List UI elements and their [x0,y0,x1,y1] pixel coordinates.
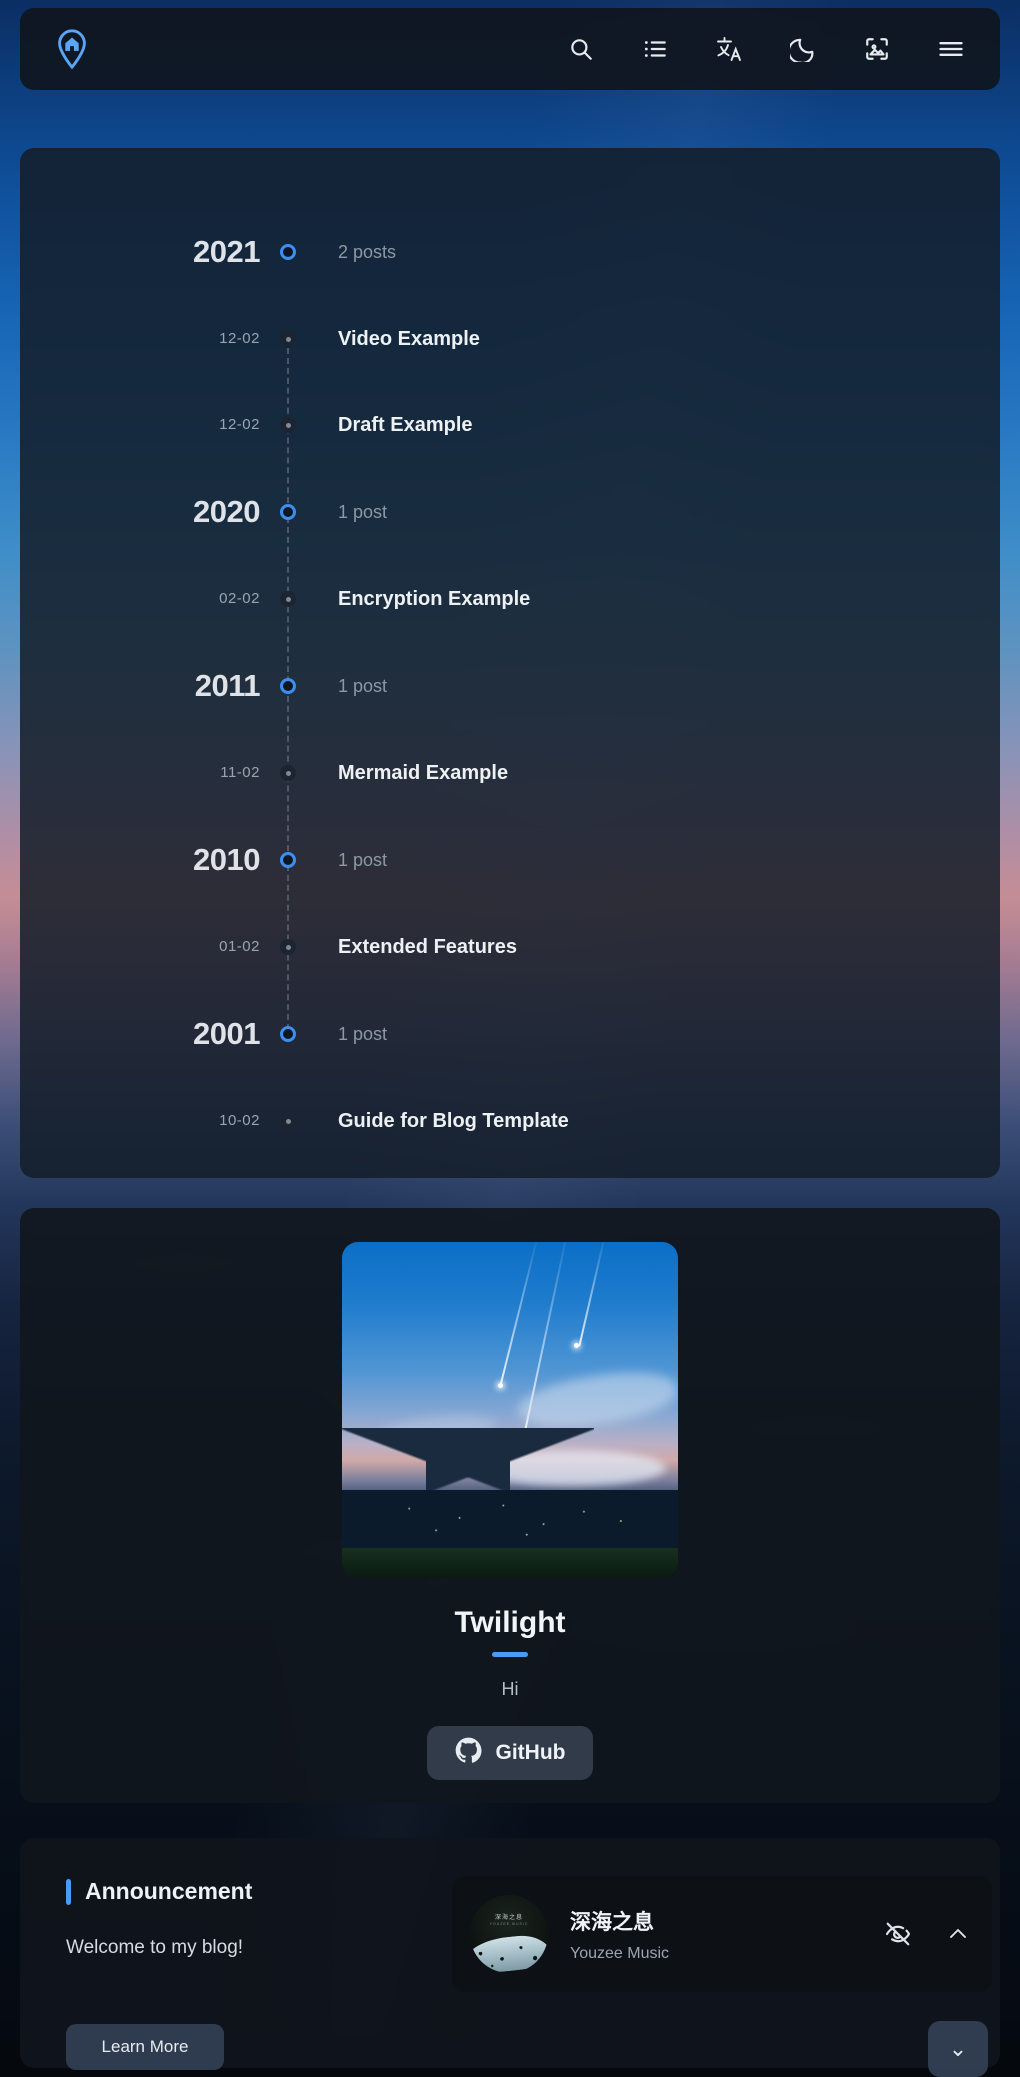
twilight-sky-avatar [342,1242,678,1578]
album-art: 深海之息 YOUZEE MUSIC [470,1895,548,1973]
timeline-year-group: 20101 post [20,816,1000,904]
meteor-streak [500,1242,539,1385]
album-art-wave [470,1932,548,1973]
header-nav-icons [566,34,966,64]
mountain-silhouette [342,1428,678,1492]
timeline-year-dot [273,244,303,260]
home-pin-logo[interactable] [54,28,90,70]
github-button[interactable]: GitHub [427,1726,594,1780]
timeline-post-count: 1 post [338,502,387,523]
timeline-post-title[interactable]: Encryption Example [338,588,530,611]
track-artist: Youzee Music [570,1945,669,1963]
grass-field [342,1548,678,1578]
track-title: 深海之息 [570,1906,669,1936]
timeline-post-row[interactable]: 12-02Video Example [20,296,1000,382]
timeline-year-dot [273,852,303,868]
timeline-post-count: 2 posts [338,242,396,263]
announcement-accent-bar [66,1879,71,1905]
timeline-post-date: 02-02 [20,590,260,608]
timeline-post-row[interactable]: 01-02Extended Features [20,904,1000,990]
timeline-post-dot [273,331,303,347]
city-lights [342,1490,678,1552]
close-player-button[interactable]: ⌄ [928,2021,988,2077]
timeline-year-label: 2021 [20,234,260,270]
timeline-year-dot [273,504,303,520]
timeline-post-count: 1 post [338,850,387,871]
timeline-year-dot [273,1026,303,1042]
timeline-post-dot [273,417,303,433]
profile-bio: Hi [502,1679,519,1700]
timeline-post-title[interactable]: Draft Example [338,414,473,437]
timeline-year-label: 2001 [20,1016,260,1052]
timeline-post-date: 01-02 [20,938,260,956]
archive-timeline: 20212 posts12-02Video Example12-02Draft … [20,148,1000,1164]
timeline-post-dot [273,1113,303,1129]
track-info: 深海之息 Youzee Music [570,1906,669,1963]
timeline-post-count: 1 post [338,676,387,697]
archive-timeline-card: 20212 posts12-02Video Example12-02Draft … [20,148,1000,1178]
timeline-post-dot [273,591,303,607]
timeline-post-title[interactable]: Video Example [338,328,480,351]
github-icon [455,1737,482,1769]
github-button-label: GitHub [496,1741,566,1765]
timeline-post-count: 1 post [338,1024,387,1045]
cloud-shape [514,1364,678,1436]
timeline-post-title[interactable]: Extended Features [338,936,517,959]
moon-icon[interactable] [788,34,818,64]
timeline-year-group: 20201 post [20,468,1000,556]
player-controls [884,1920,970,1948]
hide-lyrics-icon[interactable] [884,1920,912,1948]
timeline-year-dot [273,678,303,694]
profile-name: Twilight [454,1606,565,1640]
timeline-year-group: 20212 posts [20,208,1000,296]
timeline-post-date: 10-02 [20,1112,260,1130]
timeline-year-label: 2010 [20,842,260,878]
site-header [20,8,1000,90]
chevron-up-icon[interactable] [946,1922,970,1946]
timeline-post-title[interactable]: Mermaid Example [338,762,508,785]
timeline-post-row[interactable]: 11-02Mermaid Example [20,730,1000,816]
timeline-post-date: 11-02 [20,764,260,782]
album-art-title: 深海之息 [470,1912,548,1921]
timeline-post-row[interactable]: 10-02Guide for Blog Template [20,1078,1000,1164]
timeline-post-dot [273,765,303,781]
announcement-title: Announcement [85,1878,252,1905]
search-icon[interactable] [566,34,596,64]
translate-icon[interactable] [714,34,744,64]
timeline-post-date: 12-02 [20,330,260,348]
timeline-post-date: 12-02 [20,416,260,434]
timeline-post-row[interactable]: 12-02Draft Example [20,382,1000,468]
timeline-year-label: 2020 [20,494,260,530]
hamburger-menu-icon[interactable] [936,34,966,64]
timeline-year-label: 2011 [20,668,260,704]
meteor-streak [578,1242,606,1347]
name-underline [492,1652,528,1657]
learn-more-button[interactable]: Learn More [66,2024,224,2070]
timeline-year-group: 20111 post [20,642,1000,730]
meteor-head [574,1343,579,1348]
image-toggle-icon[interactable] [862,34,892,64]
timeline-post-row[interactable]: 02-02Encryption Example [20,556,1000,642]
timeline-post-title[interactable]: Guide for Blog Template [338,1110,569,1133]
timeline-year-group: 20011 post [20,990,1000,1078]
timeline-post-dot [273,939,303,955]
toc-list-icon[interactable] [640,34,670,64]
album-art-subtitle: YOUZEE MUSIC [470,1922,548,1926]
profile-card: Twilight Hi GitHub [20,1208,1000,1803]
meteor-head [498,1383,503,1388]
music-player: 深海之息 YOUZEE MUSIC 深海之息 Youzee Music [452,1876,992,1992]
